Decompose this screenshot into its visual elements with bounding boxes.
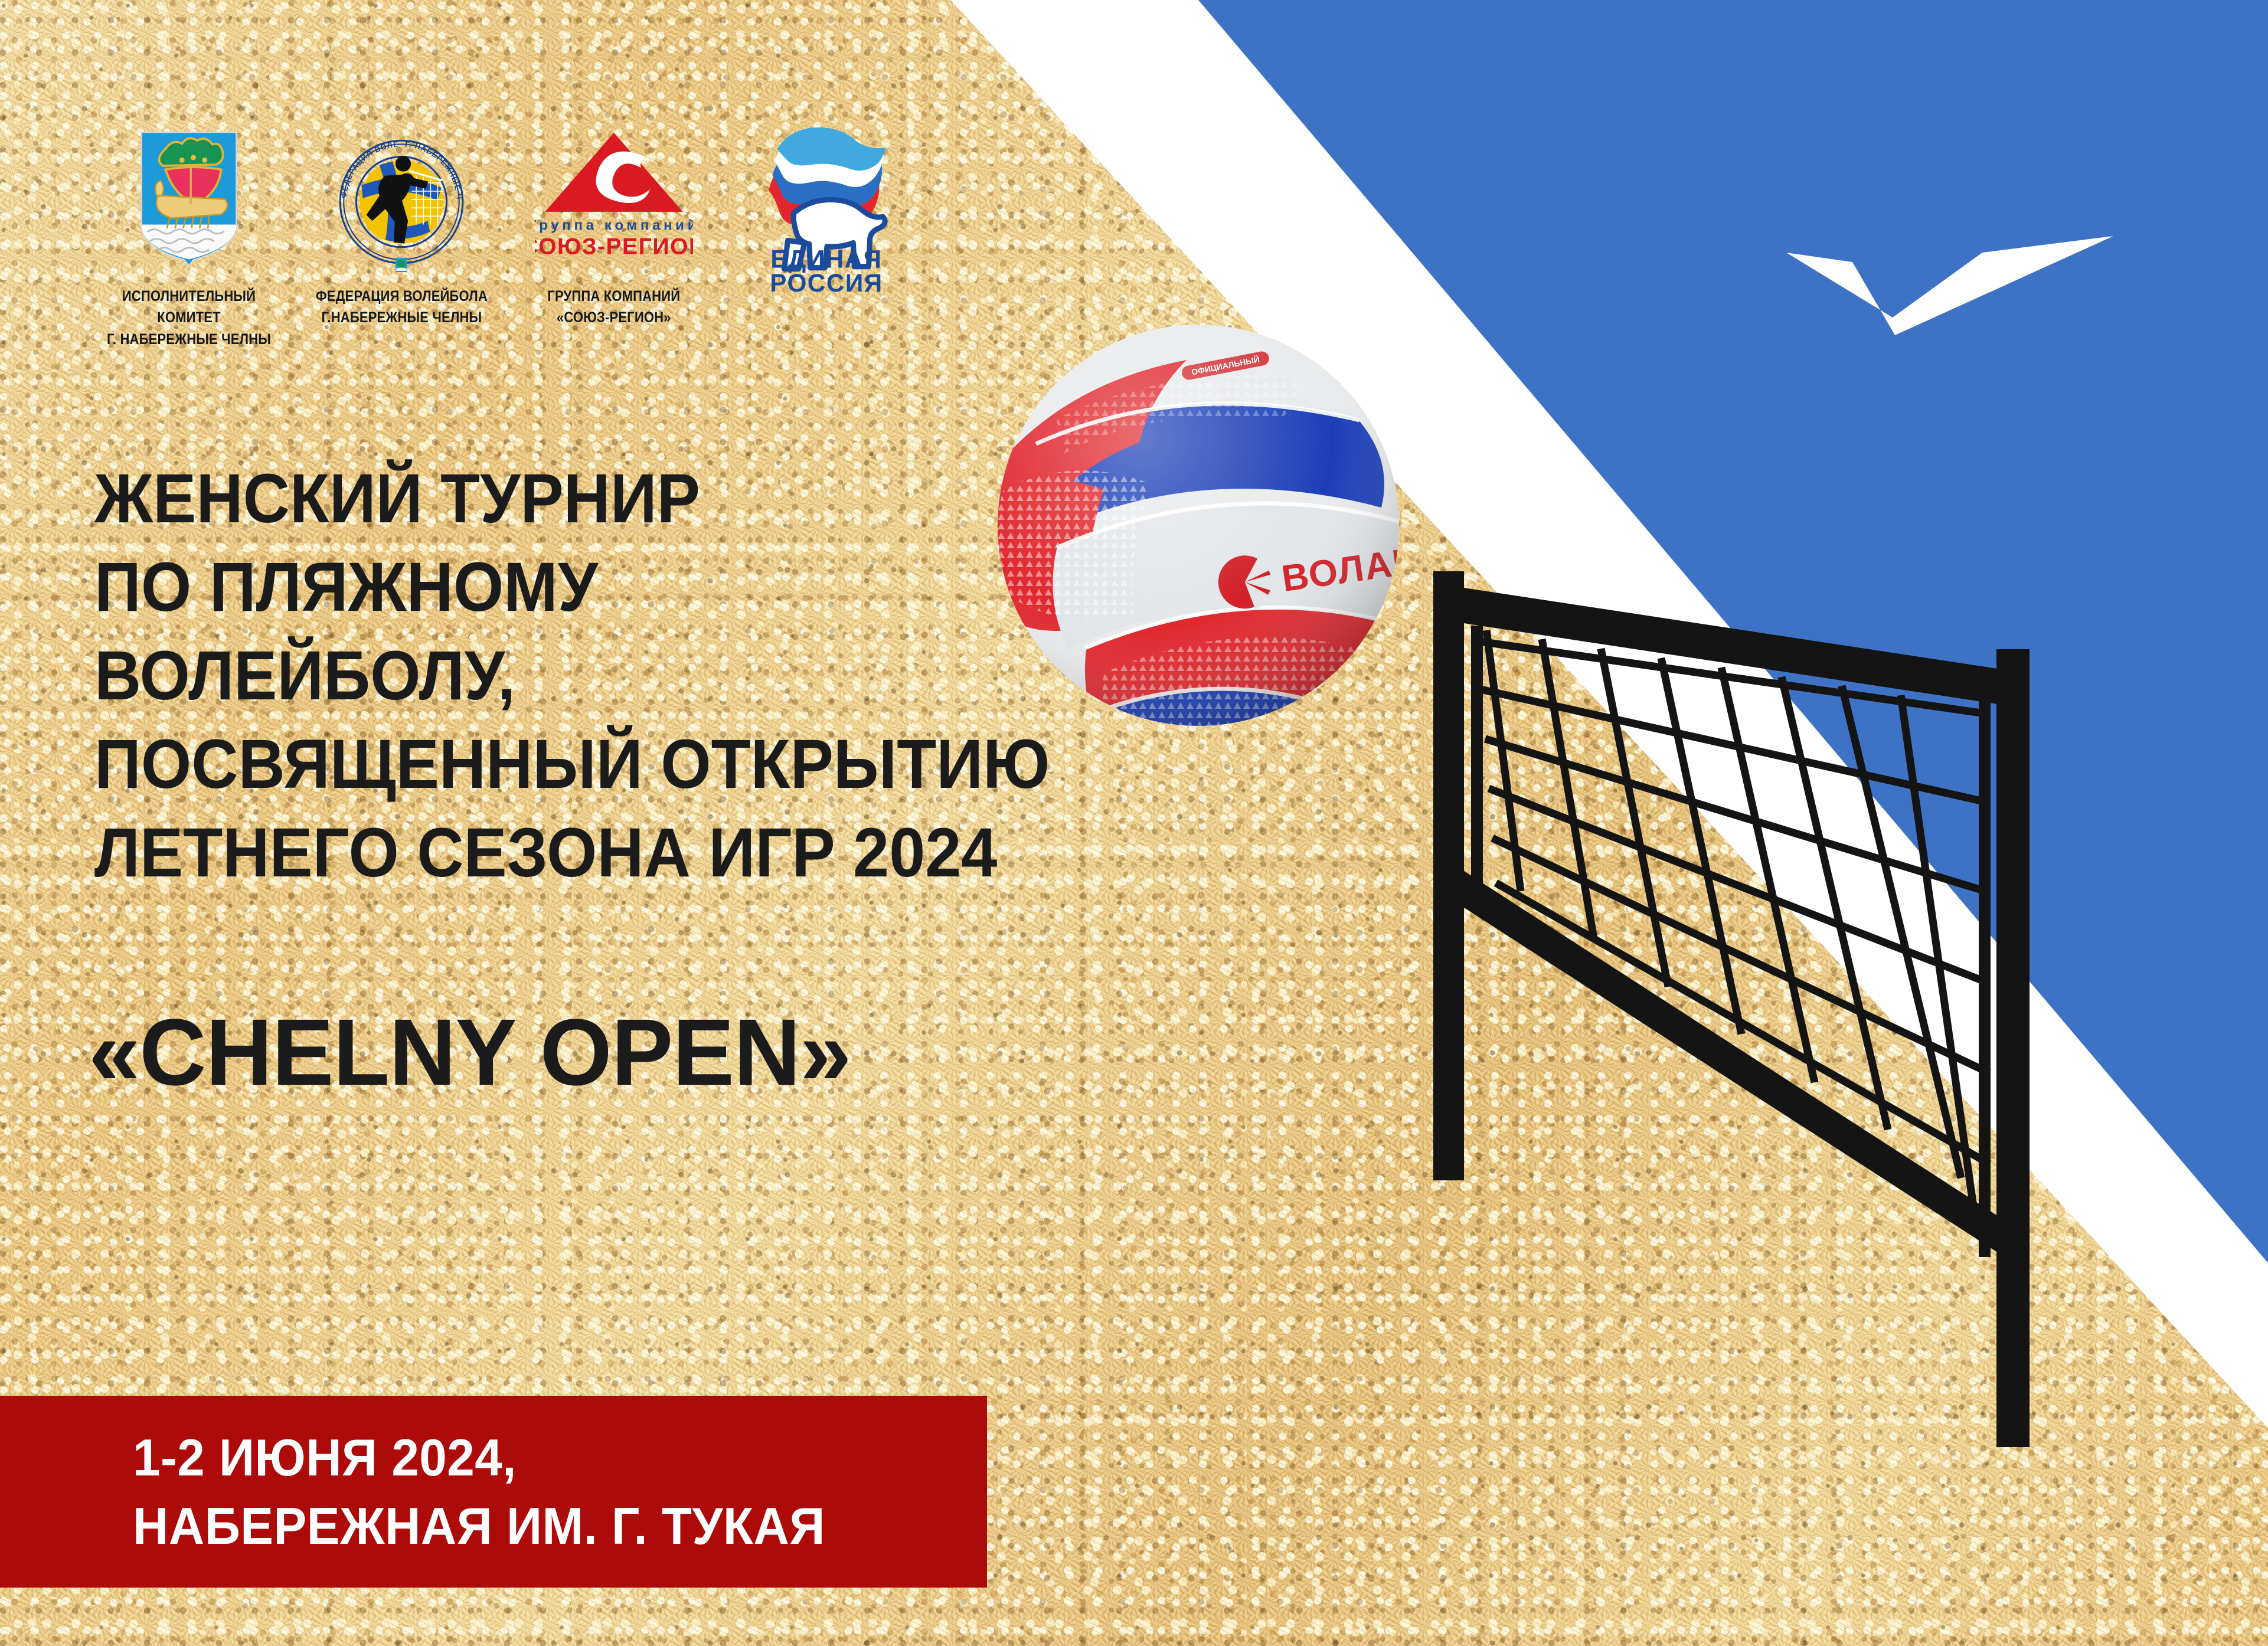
sponsor-caption: ФЕДЕРАЦИЯ ВОЛЕЙБОЛА Г.НАБЕРЕЖНЫЕ ЧЕЛНЫ (315, 286, 487, 329)
date-venue-banner: 1-2 ИЮНЯ 2024, НАБЕРЕЖНАЯ ИМ. Г. ТУКАЯ (0, 1396, 987, 1588)
headline-line-2: ПО ПЛЯЖНОМУ (94, 543, 1330, 631)
sponsor-caption: ИСПОЛНИТЕЛЬНЫЙ КОМИТЕТ Г. НАБЕРЕЖНЫЕ ЧЕЛ… (96, 286, 283, 350)
svg-text:РОССИЯ: РОССИЯ (770, 269, 883, 293)
sponsor-logo-row: ИСПОЛНИТЕЛЬНЫЙ КОМИТЕТ Г. НАБЕРЕЖНЫЕ ЧЕЛ… (83, 118, 933, 350)
united-russia-bear-logo-icon: ЕДИНАЯ РОССИЯ (752, 118, 901, 295)
naberezhnye-chelny-coat-of-arms-icon (135, 118, 243, 277)
headline-line-1: ЖЕНСКИЙ ТУРНИР (94, 454, 1330, 543)
sponsor-caption: ГРУППА КОМПАНИЙ «СОЮЗ-РЕГИОН» (548, 286, 681, 329)
headline: ЖЕНСКИЙ ТУРНИР ПО ПЛЯЖНОМУ ВОЛЕЙБОЛУ, ПО… (94, 454, 1330, 897)
svg-text:СОЮЗ-РЕГИОН: СОЮЗ-РЕГИОН (535, 234, 693, 260)
banner-date-line: 1-2 ИЮНЯ 2024, (133, 1424, 945, 1492)
soyuz-region-triangle-logo-icon: Группа компаний СОЮЗ-РЕГИОН (535, 118, 693, 277)
svg-text:Группа компаний: Группа компаний (535, 218, 693, 234)
sponsor-volleyball-federation: ФЕДЕРАЦИЯ ВОЛЕЙБОЛА Г. НАБЕРЕЖНЫЕ ЧЕЛНЫ … (295, 118, 508, 329)
headline-line-5: ЛЕТНЕГО СЕЗОНА ИГР 2024 (94, 809, 1330, 897)
banner-venue-line: НАБЕРЕЖНАЯ ИМ. Г. ТУКАЯ (133, 1492, 945, 1560)
tournament-brand-title: «CHELNY OPEN» (89, 1003, 851, 1101)
sponsor-soyuz-region: Группа компаний СОЮЗ-РЕГИОН ГРУППА КОМПА… (508, 118, 720, 329)
headline-line-4: ПОСВЯЩЕННЫЙ ОТКРЫТИЮ (94, 720, 1330, 809)
headline-line-3: ВОЛЕЙБОЛУ, (94, 631, 1330, 720)
sponsor-ispolkom: ИСПОЛНИТЕЛЬНЫЙ КОМИТЕТ Г. НАБЕРЕЖНЫЕ ЧЕЛ… (83, 118, 295, 350)
volleyball-federation-emblem-icon: ФЕДЕРАЦИЯ ВОЛЕЙБОЛА Г. НАБЕРЕЖНЫЕ ЧЕЛНЫ … (333, 118, 470, 277)
sponsor-united-russia: ЕДИНАЯ РОССИЯ (720, 118, 933, 303)
volleyball-net-icon (1381, 525, 2143, 1605)
poster-root: ИСПОЛНИТЕЛЬНЫЙ КОМИТЕТ Г. НАБЕРЕЖНЫЕ ЧЕЛ… (0, 0, 2268, 1646)
seagull-icon (1783, 201, 2113, 354)
